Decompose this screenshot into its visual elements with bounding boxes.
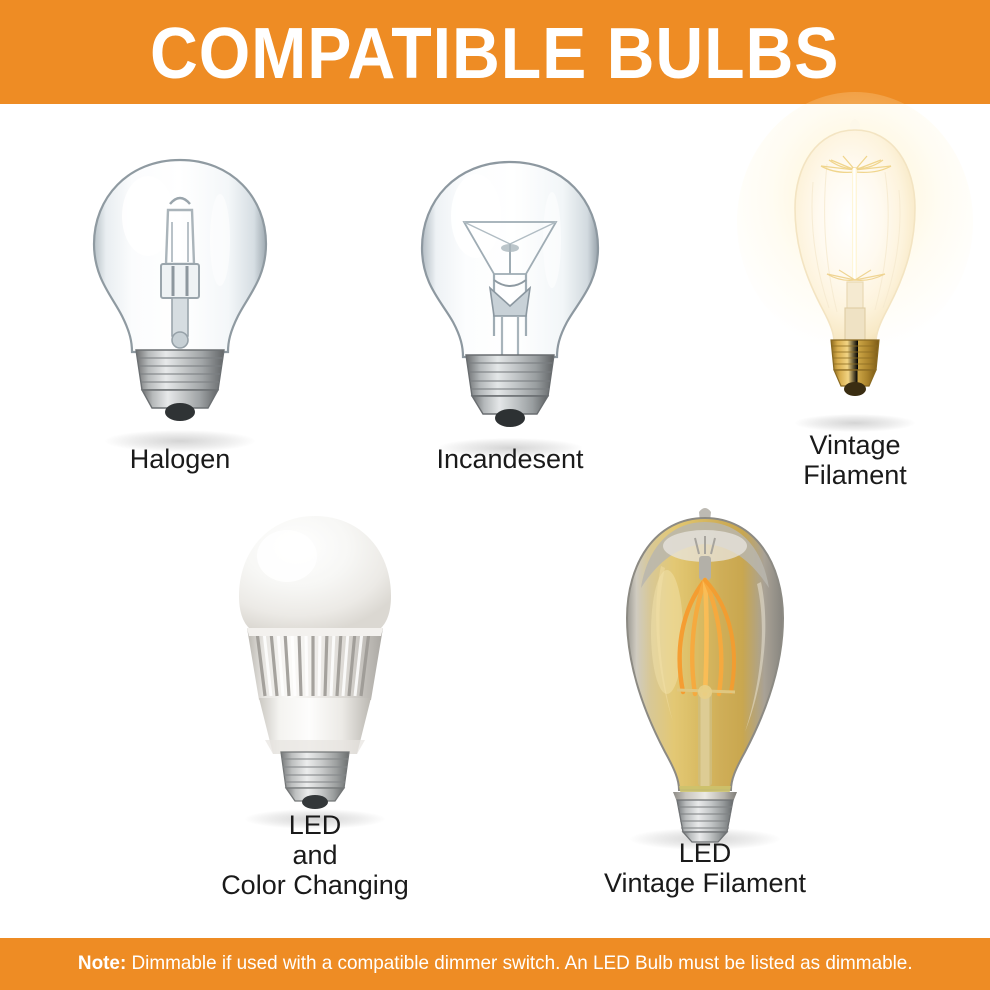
bulb-card-led-color-changing: LED and Color Changing <box>195 504 435 904</box>
note-text: Dimmable if used with a compatible dimme… <box>126 952 912 974</box>
bulb-card-vintage-filament: Vintage Filament <box>735 112 975 512</box>
incandescent-bulb-icon <box>390 148 630 438</box>
bulb-caption-led-vintage-filament: LED Vintage Filament <box>555 838 855 898</box>
footer-note-bar: Note: Dimmable if used with a compatible… <box>0 938 990 990</box>
bulb-caption-halogen: Halogen <box>60 444 300 474</box>
bulb-caption-incandescent: Incandesent <box>390 444 630 474</box>
header-bar: COMPATIBLE BULBS <box>0 0 990 104</box>
halogen-bulb-icon <box>60 144 300 434</box>
vintage-filament-bulb-icon <box>735 112 975 422</box>
bulb-card-led-vintage-filament: LED Vintage Filament <box>555 502 855 912</box>
bulb-card-incandescent: Incandesent <box>390 148 630 508</box>
page-title: COMPATIBLE BULBS <box>150 14 839 90</box>
led-vintage-filament-bulb-icon <box>555 502 855 842</box>
bulb-caption-led-color-changing: LED and Color Changing <box>195 810 435 901</box>
dimmable-note: Note: Dimmable if used with a compatible… <box>78 954 913 974</box>
bulb-caption-vintage-filament: Vintage Filament <box>735 430 975 490</box>
bulb-gallery: Halogen <box>0 104 990 938</box>
note-label: Note: <box>78 952 126 974</box>
led-bulb-icon <box>195 504 435 804</box>
bulb-card-halogen: Halogen <box>60 144 300 504</box>
